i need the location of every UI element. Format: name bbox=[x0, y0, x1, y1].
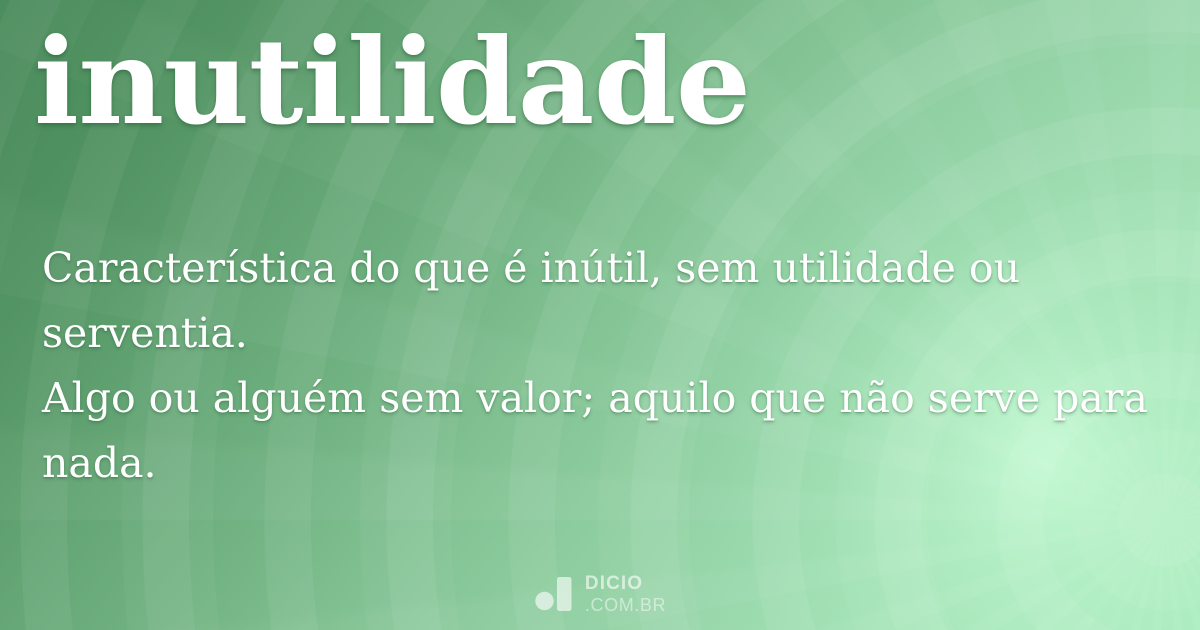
definition-list: Característica do que é inútil, sem util… bbox=[42, 236, 1152, 496]
brand-tld: .COM.BR bbox=[585, 596, 666, 614]
dicio-word-card: inutilidade Característica do que é inút… bbox=[0, 0, 1200, 630]
definition-item: Algo ou alguém sem valor; aquilo que não… bbox=[42, 366, 1152, 496]
brand-wordmark: DICIO .COM.BR bbox=[585, 574, 666, 614]
brand-logo: DICIO .COM.BR bbox=[0, 574, 1200, 614]
brand-name: DICIO bbox=[585, 574, 666, 593]
card-content: inutilidade Característica do que é inút… bbox=[0, 0, 1200, 630]
page-title: inutilidade bbox=[34, 16, 750, 148]
definition-item: Característica do que é inútil, sem util… bbox=[42, 236, 1152, 366]
dicio-logo-icon bbox=[534, 577, 574, 611]
